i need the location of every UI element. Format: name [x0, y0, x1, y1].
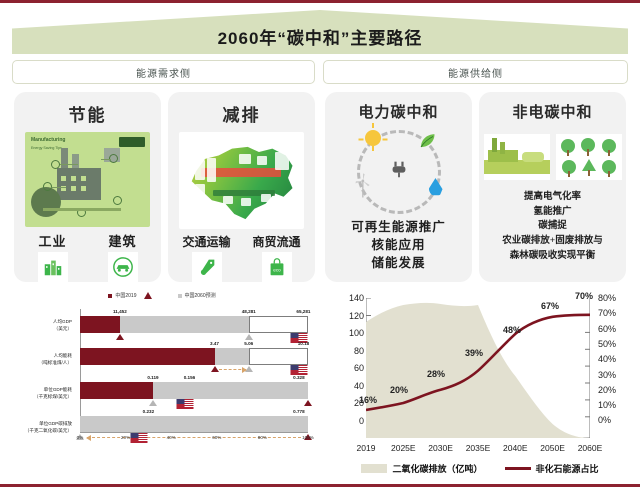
- left-bar-chart: 中国2019 中国2060预测 人均GDP（美元） 11,452 48,281 …: [6, 290, 318, 480]
- sector-label: 商贸流通: [252, 233, 300, 250]
- data-label: 48%: [503, 325, 521, 335]
- x-tick: 80%: [258, 435, 267, 440]
- factory-icon: [38, 252, 68, 282]
- measure-line: 核能应用: [351, 236, 446, 254]
- y-tick: 140: [338, 293, 364, 303]
- value-label: 10.18: [298, 341, 310, 346]
- value-label: 5.06: [244, 341, 253, 346]
- card-title: 非电碳中和: [512, 101, 592, 122]
- forest-trees-image: [556, 134, 622, 180]
- sector-industry[interactable]: 工业: [22, 231, 84, 282]
- y2-tick: 60%: [598, 324, 632, 334]
- card-nonpower-carbon-neutral[interactable]: 非电碳中和 提高电气化率: [479, 92, 626, 282]
- card-emission-reduction[interactable]: 减排 交通运输 商贸流通 eco: [168, 92, 315, 282]
- legend-label: 非化石能源占比: [536, 462, 599, 475]
- trend-arrow-right: [219, 369, 246, 370]
- card-energy-saving[interactable]: 节能 Manufacturing Energy Saving Tips: [14, 92, 161, 282]
- sector-label: 工业: [38, 231, 66, 250]
- value-label: 0.328: [293, 375, 305, 380]
- data-label: 67%: [541, 301, 559, 311]
- table-row: 3.47 5.06 10.18: [80, 341, 308, 371]
- sector-label: 交通运输: [182, 233, 230, 250]
- marker-triangle-red: [116, 334, 124, 340]
- x-tick: 2060E: [578, 443, 603, 453]
- manufacturing-infographic: Manufacturing Energy Saving Tips: [25, 132, 150, 227]
- y2-tick: 40%: [598, 354, 632, 364]
- page-title: 2060年“碳中和”主要路径: [12, 10, 628, 54]
- bar-gray: [80, 416, 308, 433]
- power-plug-icon: [387, 158, 411, 180]
- legend-triangle-swatch: [144, 292, 152, 299]
- x-axis: 0% 20% 40% 60% 80% 100%: [80, 432, 308, 433]
- chart-legend: 二氧化碳排放（亿吨） 非化石能源占比: [322, 462, 638, 475]
- y2-tick: 70%: [598, 308, 632, 318]
- sun-icon: [365, 130, 381, 146]
- trend-arrow-left: [87, 437, 301, 438]
- y2-tick: 0%: [598, 415, 632, 425]
- legend-swatch: [361, 464, 387, 473]
- y-tick: 60: [338, 363, 364, 373]
- factory-icon: [57, 168, 101, 200]
- wind-turbine-icon: [353, 172, 373, 198]
- data-label: 28%: [427, 369, 445, 379]
- marker-triangle-red: [211, 366, 219, 372]
- green-vehicle-icon: [108, 252, 138, 282]
- legend-swatch: [108, 294, 112, 298]
- brand-badge: [119, 137, 145, 147]
- smokestack-icon: [61, 148, 68, 170]
- value-label: 0.156: [184, 375, 196, 380]
- sector-commerce[interactable]: 商贸流通 eco: [246, 233, 308, 282]
- row-label-energy-per-capita: 人均能耗（吨标准煤/人）: [8, 353, 72, 367]
- value-label: 0.232: [143, 409, 155, 414]
- tab-energy-supply-side[interactable]: 能源供给侧: [323, 60, 628, 84]
- data-label: 39%: [465, 348, 483, 358]
- sector-transport[interactable]: 交通运输: [176, 233, 238, 282]
- measure-line: 储能发展: [351, 254, 446, 272]
- legend-swatch: [505, 467, 531, 470]
- card-title: 节能: [69, 101, 107, 126]
- value-label: 0.778: [293, 409, 305, 414]
- row-label-energy-intensity: 单位GDP能耗（千克标煤/美元）: [8, 387, 72, 401]
- legend-label: 中国2060预测: [185, 292, 216, 299]
- sector-icons: 工业 建筑: [22, 231, 154, 282]
- usa-flag-icon: [290, 365, 307, 375]
- bar-usa-outline: [249, 348, 308, 365]
- card-images: [484, 134, 622, 180]
- row-label-gdp-per-capita: 人均GDP（美元）: [8, 319, 72, 333]
- data-label: 20%: [390, 385, 408, 395]
- y2-tick: 30%: [598, 370, 632, 380]
- card-title: 电力碳中和: [358, 101, 438, 122]
- marker-triangle-gray: [149, 400, 157, 406]
- y2-tick: 80%: [598, 293, 632, 303]
- leaf-icon: [417, 132, 437, 150]
- legend-label: 中国2019: [115, 292, 136, 299]
- row-label-carbon-intensity: 单位GDP碳排放（千克二氧化碳/美元）: [8, 421, 72, 435]
- data-label: 70%: [575, 291, 593, 301]
- page-root: 2060年“碳中和”主要路径 能源需求侧 能源供给侧 节能 Manufactur…: [0, 0, 640, 487]
- x-tick: 2040E: [503, 443, 528, 453]
- card-power-carbon-neutral[interactable]: 电力碳中和 可再生能源推广 核能应用 储能发展: [325, 92, 472, 282]
- svg-text:eco: eco: [273, 268, 281, 273]
- sector-label: 建筑: [108, 231, 136, 250]
- header-banner: 2060年“碳中和”主要路径: [12, 10, 628, 54]
- x-tick: 2019: [357, 443, 376, 453]
- measure-line: 森林碳吸收实现平衡: [502, 249, 602, 264]
- y2-tick: 20%: [598, 385, 632, 395]
- measure-line: 可再生能源推广: [351, 218, 446, 236]
- bar-rows: 人均GDP（美元） 11,452 48,281 65,281 人均能耗（吨标准煤…: [6, 305, 318, 433]
- china-map-infographic: [179, 132, 304, 229]
- x-tick: 2030E: [428, 443, 453, 453]
- x-tick: 2025E: [391, 443, 416, 453]
- measure-line: 碳捕捉: [502, 219, 602, 234]
- eco-transport-icon: [192, 252, 222, 282]
- bar-usa-outline: [249, 316, 308, 333]
- marker-triangle-red: [304, 400, 312, 406]
- tab-energy-demand-side[interactable]: 能源需求侧: [12, 60, 315, 84]
- table-row: 0.232 0.778: [80, 409, 308, 439]
- y-tick: 40: [338, 381, 364, 391]
- legend-item-nonfossil: 非化石能源占比: [505, 462, 599, 475]
- measure-line: 农业碳排放+固废排放与: [502, 234, 602, 249]
- value-label: 0.119: [147, 375, 158, 380]
- chart-legend: 中国2019 中国2060预测: [6, 292, 318, 299]
- y-tick: 100: [338, 328, 364, 338]
- data-label: 16%: [359, 395, 377, 405]
- y-tick: 120: [338, 311, 364, 321]
- table-row: 11,452 48,281 65,281: [80, 309, 308, 339]
- bar-china-2019: [80, 382, 153, 399]
- y-tick: 80: [338, 346, 364, 356]
- y2-tick: 10%: [598, 400, 632, 410]
- y-tick: 0: [338, 416, 364, 426]
- legend-item-china-2019: 中国2019: [108, 292, 151, 299]
- x-tick: 100%: [302, 435, 314, 440]
- value-label: 3.47: [210, 341, 219, 346]
- value-label: 11,452: [113, 309, 127, 314]
- x-tick: 0%: [77, 435, 84, 440]
- chart-svg: [366, 298, 590, 438]
- bar-china-2019: [80, 348, 215, 365]
- marker-triangle-gray: [245, 334, 253, 340]
- x-tick: 60%: [212, 435, 221, 440]
- x-tick: 2035E: [466, 443, 491, 453]
- value-label: 48,281: [242, 309, 256, 314]
- top-rule: [0, 0, 640, 3]
- table-row: 0.119 0.156 0.328: [80, 375, 308, 405]
- renewable-cycle-diagram: [343, 124, 455, 216]
- usa-flag-icon: [131, 433, 148, 443]
- x-tick: 20%: [121, 435, 130, 440]
- right-combo-chart: 140 120 100 80 60 40 20 0 80% 70% 60% 50…: [322, 290, 638, 485]
- plot-area: 16% 20% 28% 39% 48% 67% 70%: [366, 298, 590, 438]
- legend-label: 二氧化碳排放（亿吨）: [392, 462, 482, 475]
- usa-flag-icon: [176, 399, 193, 409]
- power-measures-list: 可再生能源推广 核能应用 储能发展: [351, 218, 446, 272]
- sector-building[interactable]: 建筑: [92, 231, 154, 282]
- biomass-plant-image: [484, 134, 550, 180]
- x-tick: 40%: [167, 435, 176, 440]
- eco-bag-icon: eco: [262, 252, 292, 282]
- measure-line: 氢能推广: [502, 205, 602, 220]
- legend-item-co2: 二氧化碳排放（亿吨）: [361, 462, 482, 475]
- bar-china-2019: [80, 316, 120, 333]
- x-tick: 2050E: [540, 443, 565, 453]
- percent-circle-icon: [31, 187, 61, 217]
- measure-line: 提高电气化率: [502, 190, 602, 205]
- value-label: 65,281: [296, 309, 310, 314]
- sector-icons: 交通运输 商贸流通 eco: [176, 233, 308, 282]
- nonpower-measures-list: 提高电气化率 氢能推广 碳捕捉 农业碳排放+固废排放与 森林碳吸收实现平衡: [502, 190, 602, 264]
- legend-swatch: [178, 294, 182, 298]
- legend-item-china-2060: 中国2060预测: [178, 292, 216, 299]
- card-title: 减排: [223, 101, 261, 126]
- y2-tick: 50%: [598, 339, 632, 349]
